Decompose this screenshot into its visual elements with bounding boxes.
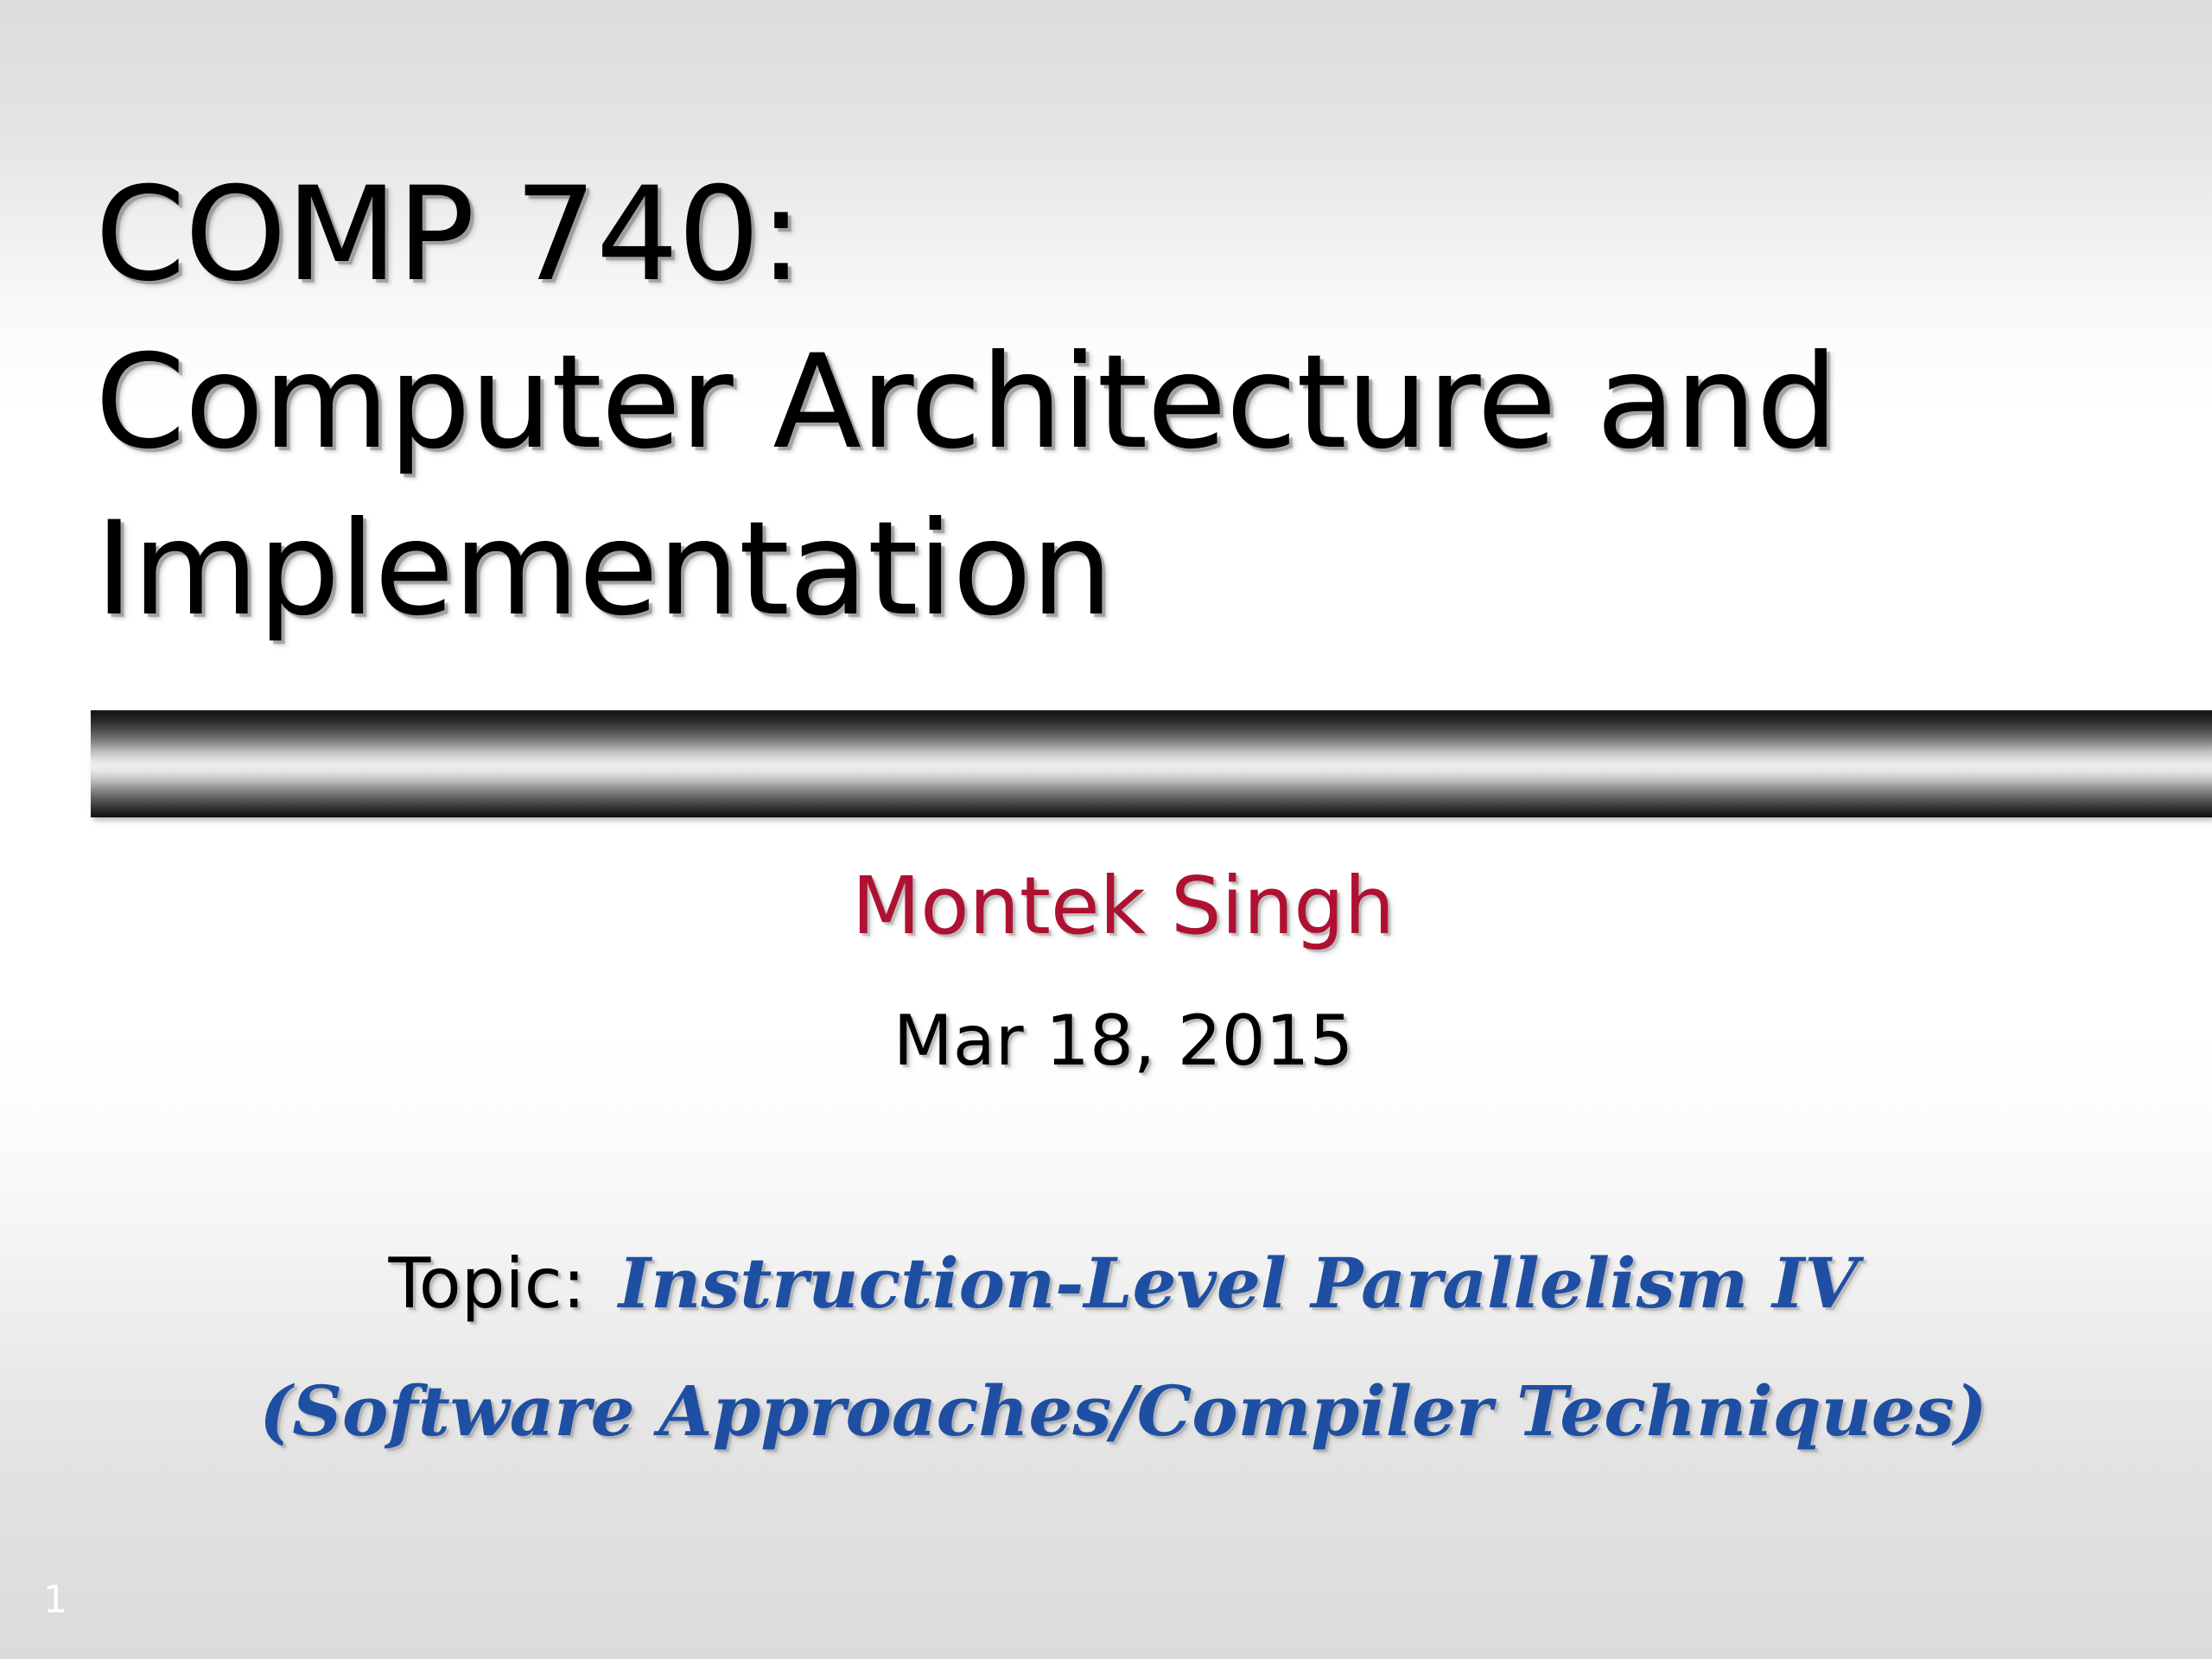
topic-line: Topic:Instruction-Level Parallelism IV	[0, 1243, 2212, 1324]
title-line-1: COMP 740:	[95, 152, 1910, 320]
slide-date: Mar 18, 2015	[0, 1001, 2212, 1081]
title-line-3: Implementation	[95, 486, 1910, 654]
topic-value: Instruction-Level Parallelism IV	[619, 1243, 1859, 1324]
slide-title: COMP 740: Computer Architecture and Impl…	[95, 152, 1910, 654]
author-name: Montek Singh	[0, 860, 2212, 952]
topic-subtitle: (Software Approaches/Compiler Techniques…	[0, 1370, 2212, 1452]
metallic-divider-bar	[91, 710, 2212, 817]
presentation-slide: COMP 740: Computer Architecture and Impl…	[0, 0, 2212, 1659]
title-line-2: Computer Architecture and	[95, 320, 1910, 487]
topic-label: Topic:	[389, 1243, 586, 1324]
page-number: 1	[43, 1578, 67, 1622]
